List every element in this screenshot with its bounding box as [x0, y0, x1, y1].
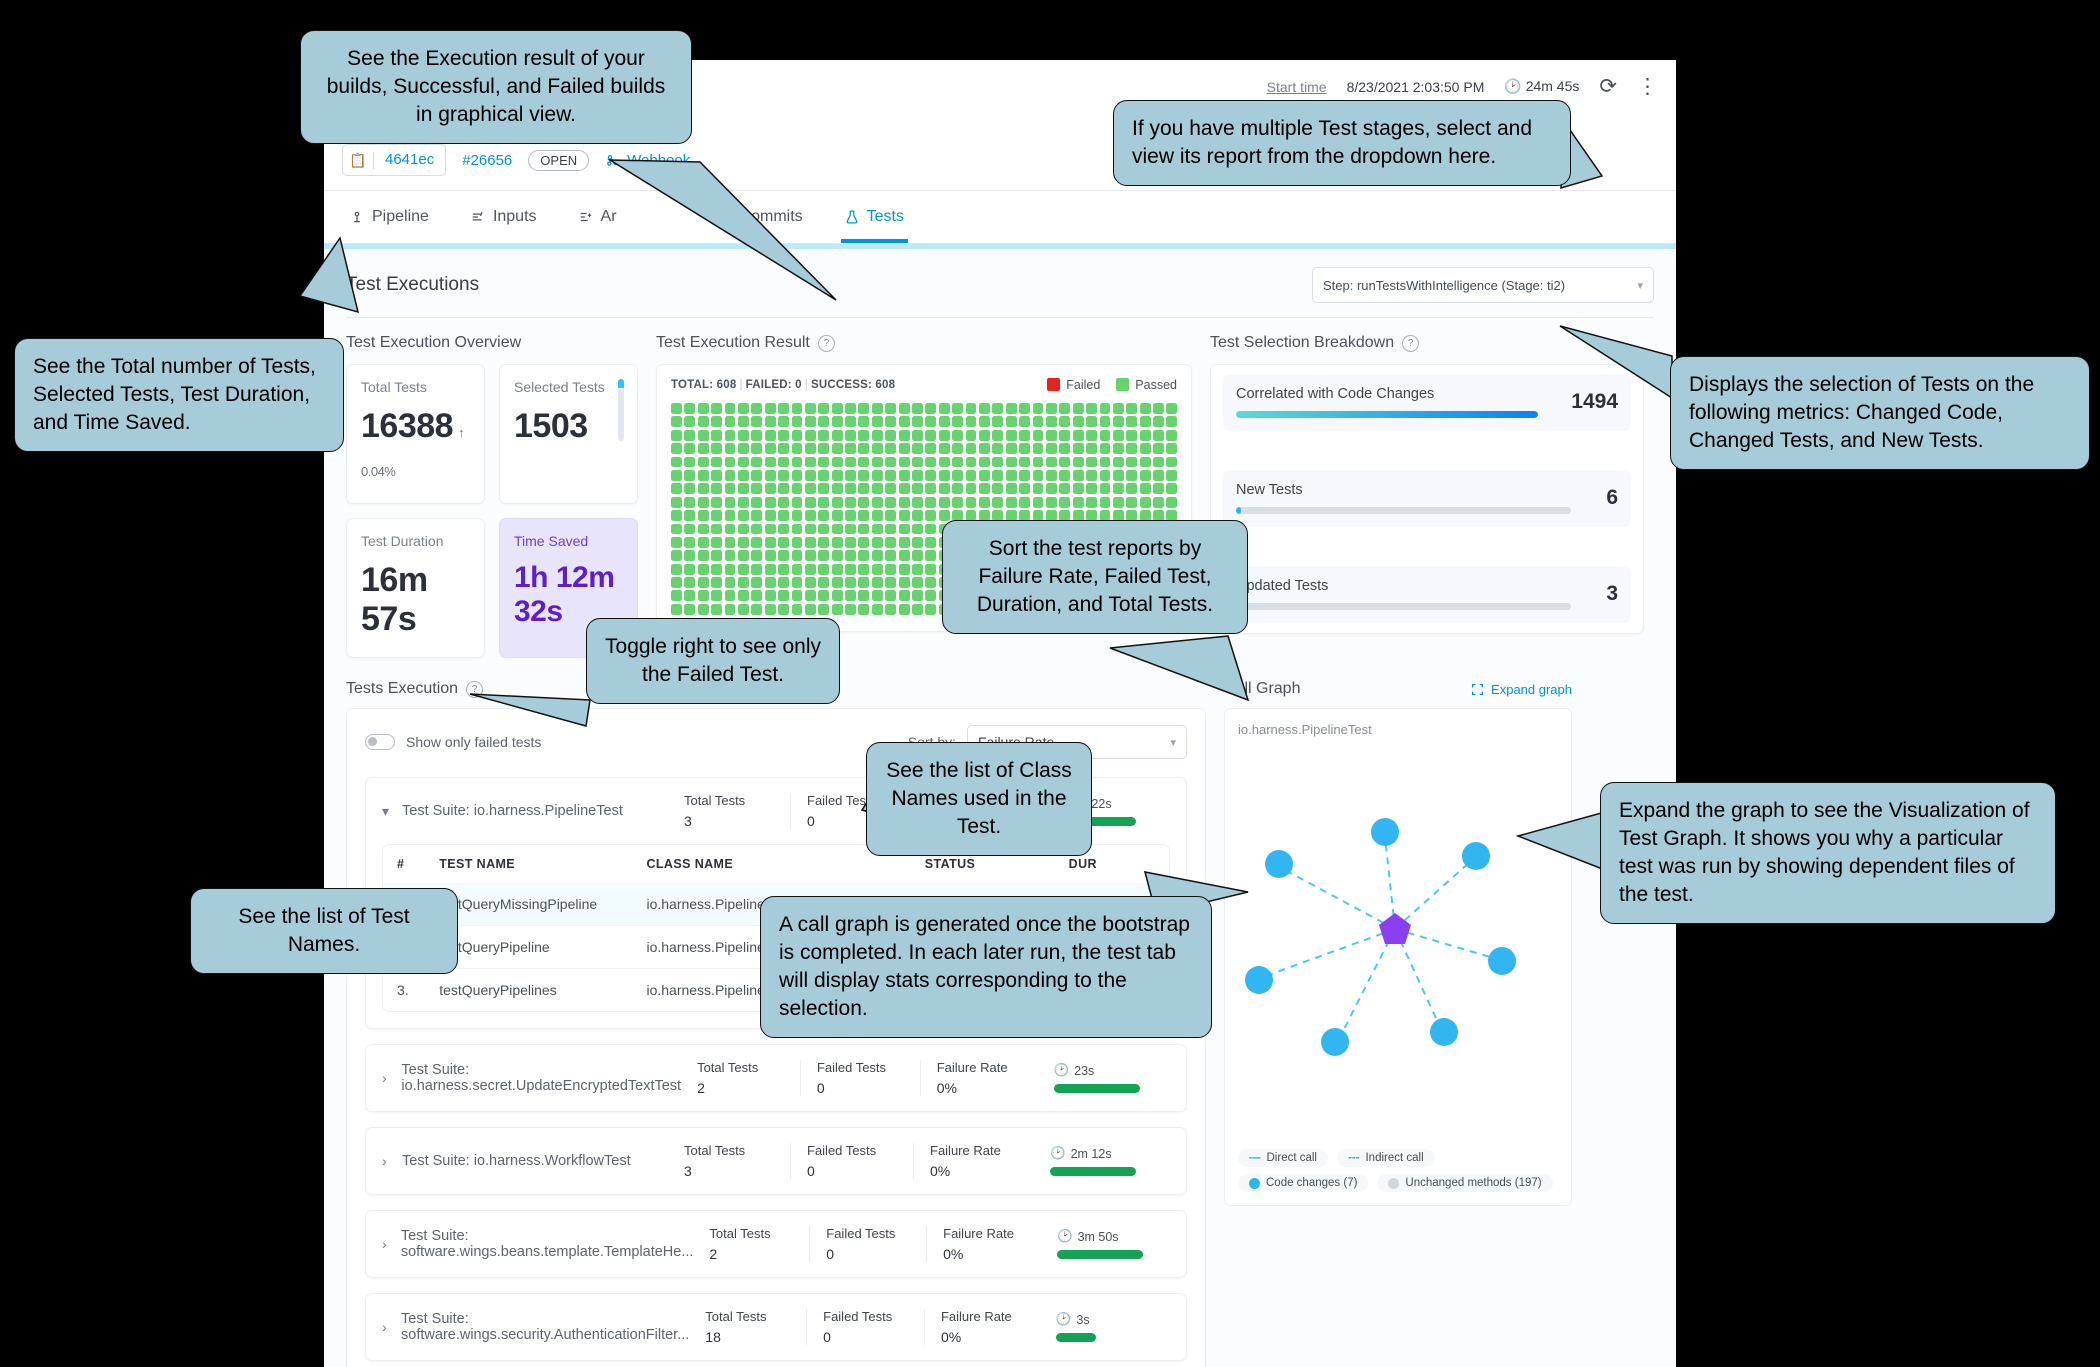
- result-cell[interactable]: [778, 550, 789, 561]
- result-cell[interactable]: [671, 564, 682, 575]
- result-cell[interactable]: [925, 457, 936, 468]
- result-cell[interactable]: [818, 590, 829, 601]
- result-cell[interactable]: [1073, 403, 1084, 414]
- tab-inputs[interactable]: Inputs: [471, 191, 537, 243]
- result-cell[interactable]: [751, 497, 762, 508]
- result-cell[interactable]: [952, 430, 963, 441]
- result-cell[interactable]: [912, 470, 923, 481]
- result-cell[interactable]: [1113, 470, 1124, 481]
- copy-icon[interactable]: 📋: [343, 152, 374, 169]
- result-cell[interactable]: [765, 416, 776, 427]
- result-cell[interactable]: [845, 590, 856, 601]
- result-cell[interactable]: [751, 457, 762, 468]
- result-cell[interactable]: [725, 430, 736, 441]
- result-cell[interactable]: [1033, 430, 1044, 441]
- result-cell[interactable]: [818, 510, 829, 521]
- result-cell[interactable]: [751, 564, 762, 575]
- result-cell[interactable]: [1113, 403, 1124, 414]
- result-cell[interactable]: [671, 604, 682, 615]
- result-cell[interactable]: [979, 443, 990, 454]
- result-cell[interactable]: [805, 604, 816, 615]
- result-cell[interactable]: [858, 590, 869, 601]
- result-cell[interactable]: [858, 483, 869, 494]
- tab-commits[interactable]: Commits: [717, 191, 803, 243]
- result-cell[interactable]: [818, 550, 829, 561]
- result-cell[interactable]: [952, 403, 963, 414]
- result-cell[interactable]: [1126, 457, 1137, 468]
- tab-tests[interactable]: Tests: [845, 191, 904, 243]
- result-cell[interactable]: [845, 604, 856, 615]
- result-cell[interactable]: [1126, 430, 1137, 441]
- result-cell[interactable]: [858, 443, 869, 454]
- result-cell[interactable]: [1086, 416, 1097, 427]
- result-cell[interactable]: [992, 457, 1003, 468]
- result-cell[interactable]: [925, 577, 936, 588]
- result-cell[interactable]: [1046, 457, 1057, 468]
- result-cell[interactable]: [738, 403, 749, 414]
- result-cell[interactable]: [858, 497, 869, 508]
- result-cell[interactable]: [832, 443, 843, 454]
- result-cell[interactable]: [912, 416, 923, 427]
- result-cell[interactable]: [818, 604, 829, 615]
- result-cell[interactable]: [1086, 470, 1097, 481]
- result-cell[interactable]: [885, 416, 896, 427]
- result-cell[interactable]: [698, 537, 709, 548]
- result-cell[interactable]: [912, 577, 923, 588]
- result-cell[interactable]: [671, 457, 682, 468]
- result-cell[interactable]: [1153, 403, 1164, 414]
- result-cell[interactable]: [845, 403, 856, 414]
- result-cell[interactable]: [738, 537, 749, 548]
- result-cell[interactable]: [858, 403, 869, 414]
- result-cell[interactable]: [899, 430, 910, 441]
- result-cell[interactable]: [684, 416, 695, 427]
- result-cell[interactable]: [1033, 470, 1044, 481]
- result-cell[interactable]: [979, 457, 990, 468]
- result-cell[interactable]: [738, 510, 749, 521]
- result-cell[interactable]: [818, 524, 829, 535]
- result-cell[interactable]: [899, 416, 910, 427]
- result-cell[interactable]: [1140, 470, 1151, 481]
- result-cell[interactable]: [1033, 483, 1044, 494]
- result-cell[interactable]: [1059, 403, 1070, 414]
- result-cell[interactable]: [698, 457, 709, 468]
- result-cell[interactable]: [872, 416, 883, 427]
- result-cell[interactable]: [845, 564, 856, 575]
- result-cell[interactable]: [698, 403, 709, 414]
- result-cell[interactable]: [1046, 430, 1057, 441]
- result-cell[interactable]: [778, 564, 789, 575]
- result-cell[interactable]: [1073, 430, 1084, 441]
- result-cell[interactable]: [966, 470, 977, 481]
- result-cell[interactable]: [818, 457, 829, 468]
- result-cell[interactable]: [1019, 403, 1030, 414]
- result-cell[interactable]: [858, 564, 869, 575]
- result-cell[interactable]: [778, 604, 789, 615]
- result-cell[interactable]: [1019, 443, 1030, 454]
- result-cell[interactable]: [979, 470, 990, 481]
- result-cell[interactable]: [1059, 470, 1070, 481]
- result-cell[interactable]: [671, 497, 682, 508]
- selection-row-new[interactable]: New Tests 6: [1223, 471, 1631, 527]
- result-cell[interactable]: [671, 550, 682, 561]
- result-cell[interactable]: [966, 483, 977, 494]
- result-cell[interactable]: [885, 550, 896, 561]
- result-cell[interactable]: [832, 470, 843, 481]
- result-cell[interactable]: [818, 483, 829, 494]
- result-cell[interactable]: [1140, 443, 1151, 454]
- result-cell[interactable]: [925, 430, 936, 441]
- result-cell[interactable]: [738, 470, 749, 481]
- result-cell[interactable]: [751, 430, 762, 441]
- result-cell[interactable]: [725, 577, 736, 588]
- result-cell[interactable]: [858, 416, 869, 427]
- result-cell[interactable]: [832, 550, 843, 561]
- result-cell[interactable]: [885, 457, 896, 468]
- result-cell[interactable]: [792, 537, 803, 548]
- result-cell[interactable]: [858, 604, 869, 615]
- result-cell[interactable]: [885, 483, 896, 494]
- result-cell[interactable]: [885, 604, 896, 615]
- result-cell[interactable]: [751, 510, 762, 521]
- result-cell[interactable]: [698, 524, 709, 535]
- result-cell[interactable]: [1059, 483, 1070, 494]
- result-cell[interactable]: [1073, 470, 1084, 481]
- result-cell[interactable]: [805, 430, 816, 441]
- result-cell[interactable]: [872, 537, 883, 548]
- result-cell[interactable]: [1006, 457, 1017, 468]
- result-cell[interactable]: [725, 470, 736, 481]
- result-cell[interactable]: [751, 537, 762, 548]
- result-cell[interactable]: [1046, 416, 1057, 427]
- result-cell[interactable]: [1126, 443, 1137, 454]
- result-cell[interactable]: [805, 550, 816, 561]
- result-cell[interactable]: [765, 524, 776, 535]
- result-cell[interactable]: [778, 537, 789, 548]
- result-cell[interactable]: [671, 483, 682, 494]
- result-cell[interactable]: [1113, 497, 1124, 508]
- result-cell[interactable]: [765, 510, 776, 521]
- result-cell[interactable]: [912, 550, 923, 561]
- result-cell[interactable]: [1100, 457, 1111, 468]
- result-cell[interactable]: [925, 524, 936, 535]
- result-cell[interactable]: [1153, 430, 1164, 441]
- result-cell[interactable]: [925, 416, 936, 427]
- result-cell[interactable]: [1073, 443, 1084, 454]
- result-cell[interactable]: [725, 457, 736, 468]
- result-cell[interactable]: [684, 524, 695, 535]
- result-cell[interactable]: [1100, 483, 1111, 494]
- result-cell[interactable]: [684, 564, 695, 575]
- result-cell[interactable]: [952, 483, 963, 494]
- result-cell[interactable]: [1086, 403, 1097, 414]
- result-cell[interactable]: [1166, 483, 1177, 494]
- result-cell[interactable]: [1033, 443, 1044, 454]
- result-cell[interactable]: [899, 403, 910, 414]
- result-cell[interactable]: [1059, 457, 1070, 468]
- result-cell[interactable]: [1086, 430, 1097, 441]
- chevron-right-icon[interactable]: ›: [382, 1319, 401, 1335]
- result-cell[interactable]: [1113, 483, 1124, 494]
- result-cell[interactable]: [979, 416, 990, 427]
- result-cell[interactable]: [698, 483, 709, 494]
- help-icon[interactable]: ?: [1402, 335, 1419, 352]
- result-cell[interactable]: [671, 416, 682, 427]
- result-cell[interactable]: [1126, 497, 1137, 508]
- result-cell[interactable]: [858, 457, 869, 468]
- result-cell[interactable]: [1033, 497, 1044, 508]
- result-cell[interactable]: [698, 577, 709, 588]
- result-cell[interactable]: [684, 590, 695, 601]
- result-cell[interactable]: [832, 577, 843, 588]
- result-cell[interactable]: [1033, 457, 1044, 468]
- result-cell[interactable]: [792, 604, 803, 615]
- result-cell[interactable]: [899, 564, 910, 575]
- result-cell[interactable]: [925, 470, 936, 481]
- result-cell[interactable]: [1073, 497, 1084, 508]
- result-cell[interactable]: [818, 430, 829, 441]
- result-cell[interactable]: [925, 483, 936, 494]
- result-cell[interactable]: [966, 403, 977, 414]
- result-cell[interactable]: [725, 416, 736, 427]
- result-cell[interactable]: [899, 457, 910, 468]
- result-cell[interactable]: [751, 483, 762, 494]
- result-cell[interactable]: [872, 497, 883, 508]
- test-suite-row[interactable]: › Test Suite: io.harness.secret.UpdateEn…: [366, 1045, 1186, 1111]
- result-cell[interactable]: [845, 524, 856, 535]
- result-cell[interactable]: [671, 577, 682, 588]
- result-cell[interactable]: [912, 604, 923, 615]
- result-cell[interactable]: [805, 537, 816, 548]
- result-cell[interactable]: [952, 497, 963, 508]
- result-cell[interactable]: [1100, 403, 1111, 414]
- result-cell[interactable]: [778, 577, 789, 588]
- result-cell[interactable]: [979, 483, 990, 494]
- result-cell[interactable]: [765, 483, 776, 494]
- result-cell[interactable]: [792, 524, 803, 535]
- result-cell[interactable]: [711, 443, 722, 454]
- result-cell[interactable]: [792, 457, 803, 468]
- result-cell[interactable]: [671, 537, 682, 548]
- result-cell[interactable]: [1059, 416, 1070, 427]
- result-cell[interactable]: [738, 430, 749, 441]
- result-cell[interactable]: [952, 470, 963, 481]
- result-cell[interactable]: [818, 564, 829, 575]
- result-cell[interactable]: [778, 470, 789, 481]
- result-cell[interactable]: [979, 497, 990, 508]
- result-cell[interactable]: [1059, 443, 1070, 454]
- result-cell[interactable]: [899, 550, 910, 561]
- result-cell[interactable]: [738, 577, 749, 588]
- result-cell[interactable]: [872, 564, 883, 575]
- result-cell[interactable]: [1006, 483, 1017, 494]
- result-cell[interactable]: [711, 470, 722, 481]
- result-cell[interactable]: [711, 590, 722, 601]
- result-cell[interactable]: [711, 510, 722, 521]
- result-cell[interactable]: [885, 590, 896, 601]
- result-cell[interactable]: [925, 443, 936, 454]
- result-cell[interactable]: [885, 524, 896, 535]
- result-cell[interactable]: [899, 497, 910, 508]
- result-cell[interactable]: [885, 430, 896, 441]
- result-cell[interactable]: [925, 537, 936, 548]
- result-cell[interactable]: [845, 510, 856, 521]
- result-cell[interactable]: [858, 430, 869, 441]
- result-cell[interactable]: [872, 604, 883, 615]
- result-cell[interactable]: [778, 403, 789, 414]
- result-cell[interactable]: [832, 604, 843, 615]
- result-cell[interactable]: [872, 403, 883, 414]
- result-cell[interactable]: [1113, 457, 1124, 468]
- result-cell[interactable]: [765, 497, 776, 508]
- result-cell[interactable]: [698, 550, 709, 561]
- result-cell[interactable]: [1153, 497, 1164, 508]
- selection-row-correlated[interactable]: Correlated with Code Changes 1494: [1223, 375, 1631, 431]
- result-cell[interactable]: [792, 430, 803, 441]
- result-cell[interactable]: [899, 524, 910, 535]
- result-cell[interactable]: [792, 497, 803, 508]
- result-cell[interactable]: [684, 550, 695, 561]
- result-cell[interactable]: [939, 510, 950, 521]
- result-cell[interactable]: [1126, 416, 1137, 427]
- result-cell[interactable]: [858, 470, 869, 481]
- result-cell[interactable]: [765, 470, 776, 481]
- failed-only-toggle-wrap[interactable]: Show only failed tests: [365, 734, 541, 750]
- result-cell[interactable]: [832, 510, 843, 521]
- result-cell[interactable]: [792, 403, 803, 414]
- result-cell[interactable]: [792, 443, 803, 454]
- result-cell[interactable]: [939, 483, 950, 494]
- result-cell[interactable]: [1100, 497, 1111, 508]
- result-cell[interactable]: [832, 497, 843, 508]
- result-cell[interactable]: [1019, 497, 1030, 508]
- result-cell[interactable]: [899, 590, 910, 601]
- result-cell[interactable]: [818, 537, 829, 548]
- result-cell[interactable]: [805, 416, 816, 427]
- result-cell[interactable]: [671, 470, 682, 481]
- chevron-right-icon[interactable]: ›: [382, 1153, 402, 1169]
- result-cell[interactable]: [1073, 457, 1084, 468]
- commit-sha[interactable]: 4641ec: [374, 145, 445, 175]
- result-cell[interactable]: [711, 416, 722, 427]
- result-cell[interactable]: [792, 416, 803, 427]
- result-cell[interactable]: [912, 457, 923, 468]
- result-cell[interactable]: [858, 524, 869, 535]
- result-cell[interactable]: [725, 510, 736, 521]
- result-cell[interactable]: [1166, 430, 1177, 441]
- result-cell[interactable]: [1100, 430, 1111, 441]
- result-cell[interactable]: [832, 590, 843, 601]
- result-cell[interactable]: [1100, 443, 1111, 454]
- result-cell[interactable]: [1046, 403, 1057, 414]
- result-cell[interactable]: [1059, 430, 1070, 441]
- result-cell[interactable]: [1033, 416, 1044, 427]
- result-cell[interactable]: [805, 403, 816, 414]
- result-cell[interactable]: [832, 483, 843, 494]
- result-cell[interactable]: [698, 416, 709, 427]
- result-cell[interactable]: [992, 443, 1003, 454]
- result-cell[interactable]: [1166, 470, 1177, 481]
- result-cell[interactable]: [751, 550, 762, 561]
- result-cell[interactable]: [792, 564, 803, 575]
- result-cell[interactable]: [992, 430, 1003, 441]
- result-cell[interactable]: [778, 590, 789, 601]
- result-cell[interactable]: [966, 457, 977, 468]
- result-cell[interactable]: [1059, 497, 1070, 508]
- result-cell[interactable]: [992, 470, 1003, 481]
- result-cell[interactable]: [698, 470, 709, 481]
- result-cell[interactable]: [912, 403, 923, 414]
- result-cell[interactable]: [845, 470, 856, 481]
- result-cell[interactable]: [939, 470, 950, 481]
- result-cell[interactable]: [1046, 443, 1057, 454]
- result-cell[interactable]: [899, 604, 910, 615]
- result-cell[interactable]: [925, 550, 936, 561]
- result-cell[interactable]: [751, 590, 762, 601]
- result-cell[interactable]: [1046, 497, 1057, 508]
- result-cell[interactable]: [711, 564, 722, 575]
- result-cell[interactable]: [992, 483, 1003, 494]
- result-cell[interactable]: [1006, 403, 1017, 414]
- result-cell[interactable]: [818, 497, 829, 508]
- result-cell[interactable]: [966, 430, 977, 441]
- result-cell[interactable]: [725, 403, 736, 414]
- result-cell[interactable]: [1126, 470, 1137, 481]
- result-cell[interactable]: [711, 537, 722, 548]
- result-cell[interactable]: [711, 550, 722, 561]
- result-cell[interactable]: [751, 403, 762, 414]
- result-cell[interactable]: [845, 457, 856, 468]
- result-cell[interactable]: [698, 497, 709, 508]
- result-cell[interactable]: [792, 470, 803, 481]
- result-cell[interactable]: [966, 497, 977, 508]
- result-cell[interactable]: [765, 430, 776, 441]
- result-cell[interactable]: [885, 470, 896, 481]
- result-cell[interactable]: [1140, 497, 1151, 508]
- result-cell[interactable]: [912, 524, 923, 535]
- result-cell[interactable]: [765, 564, 776, 575]
- result-cell[interactable]: [925, 510, 936, 521]
- result-cell[interactable]: [845, 416, 856, 427]
- result-cell[interactable]: [778, 416, 789, 427]
- result-cell[interactable]: [912, 497, 923, 508]
- result-cell[interactable]: [1153, 483, 1164, 494]
- result-cell[interactable]: [792, 510, 803, 521]
- result-cell[interactable]: [778, 457, 789, 468]
- result-cell[interactable]: [925, 590, 936, 601]
- result-cell[interactable]: [818, 577, 829, 588]
- result-cell[interactable]: [711, 497, 722, 508]
- result-cell[interactable]: [751, 577, 762, 588]
- result-cell[interactable]: [671, 510, 682, 521]
- result-cell[interactable]: [952, 457, 963, 468]
- result-cell[interactable]: [671, 590, 682, 601]
- result-cell[interactable]: [818, 470, 829, 481]
- result-cell[interactable]: [845, 577, 856, 588]
- result-cell[interactable]: [912, 443, 923, 454]
- result-cell[interactable]: [1166, 457, 1177, 468]
- result-cell[interactable]: [952, 416, 963, 427]
- result-cell[interactable]: [885, 403, 896, 414]
- result-cell[interactable]: [1019, 483, 1030, 494]
- commit-chip[interactable]: 📋 4641ec: [342, 144, 446, 176]
- result-cell[interactable]: [738, 564, 749, 575]
- result-cell[interactable]: [899, 470, 910, 481]
- result-cell[interactable]: [684, 457, 695, 468]
- result-cell[interactable]: [805, 510, 816, 521]
- result-cell[interactable]: [1086, 483, 1097, 494]
- result-cell[interactable]: [738, 590, 749, 601]
